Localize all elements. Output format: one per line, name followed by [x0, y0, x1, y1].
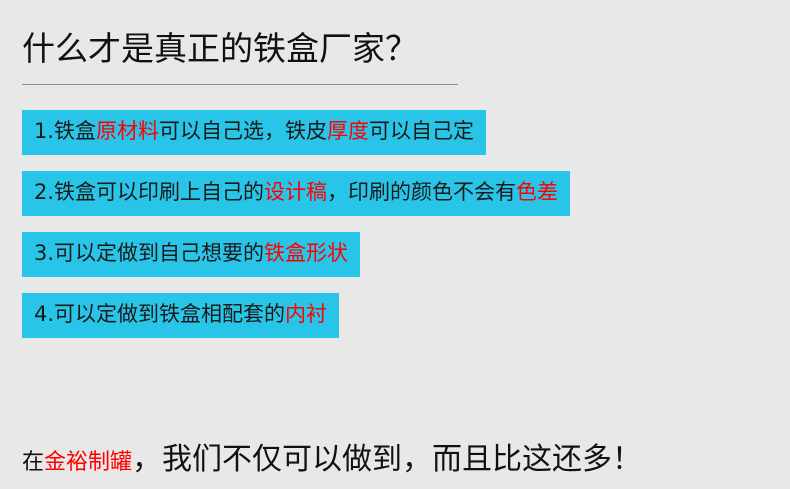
footer-suffix: ，我们不仅可以做到，而且比这还多！ [132, 442, 642, 477]
bullet-text: 可以自己选，铁皮 [159, 119, 327, 143]
bullet-row: 1.铁盒原材料可以自己选，铁皮厚度可以自己定 [22, 110, 570, 171]
footer-brand: 金裕制罐 [44, 450, 132, 475]
bullet-row: 3.可以定做到自己想要的铁盒形状 [22, 232, 570, 293]
bullet-list: 1.铁盒原材料可以自己选，铁皮厚度可以自己定2.铁盒可以印刷上自己的设计稿，印刷… [22, 110, 570, 354]
bullet-row: 4.可以定做到铁盒相配套的内衬 [22, 293, 570, 354]
bullet-item: 4.可以定做到铁盒相配套的内衬 [22, 293, 339, 338]
bullet-text: 可以定做到自己想要的 [54, 241, 264, 265]
bullet-highlight-text: 铁盒形状 [264, 241, 348, 265]
bullet-highlight-text: 内衬 [285, 302, 327, 326]
bullet-index: 3. [34, 241, 54, 265]
bullet-index: 1. [34, 119, 54, 143]
bullet-text: 可以自己定 [369, 119, 474, 143]
bullet-highlight-text: 色差 [516, 180, 558, 204]
bullet-text: 铁盒可以印刷上自己的 [54, 180, 264, 204]
bullet-item: 2.铁盒可以印刷上自己的设计稿，印刷的颜色不会有色差 [22, 171, 570, 216]
footer-line: 在金裕制罐，我们不仅可以做到，而且比这还多！ [22, 434, 642, 478]
bullet-text: 铁盒 [54, 119, 96, 143]
bullet-highlight-text: 设计稿 [264, 180, 327, 204]
title-divider [22, 84, 458, 85]
bullet-text: ，印刷的颜色不会有 [327, 180, 516, 204]
footer-prefix: 在 [22, 450, 44, 475]
bullet-row: 2.铁盒可以印刷上自己的设计稿，印刷的颜色不会有色差 [22, 171, 570, 232]
poster-page: 什么才是真正的铁盒厂家？ 1.铁盒原材料可以自己选，铁皮厚度可以自己定2.铁盒可… [0, 0, 790, 489]
bullet-highlight-text: 原材料 [96, 119, 159, 143]
bullet-index: 2. [34, 180, 54, 204]
bullet-text: 可以定做到铁盒相配套的 [54, 302, 285, 326]
bullet-item: 1.铁盒原材料可以自己选，铁皮厚度可以自己定 [22, 110, 486, 155]
bullet-highlight-text: 厚度 [327, 119, 369, 143]
bullet-index: 4. [34, 302, 54, 326]
page-title: 什么才是真正的铁盒厂家？ [22, 22, 418, 70]
bullet-item: 3.可以定做到自己想要的铁盒形状 [22, 232, 360, 277]
